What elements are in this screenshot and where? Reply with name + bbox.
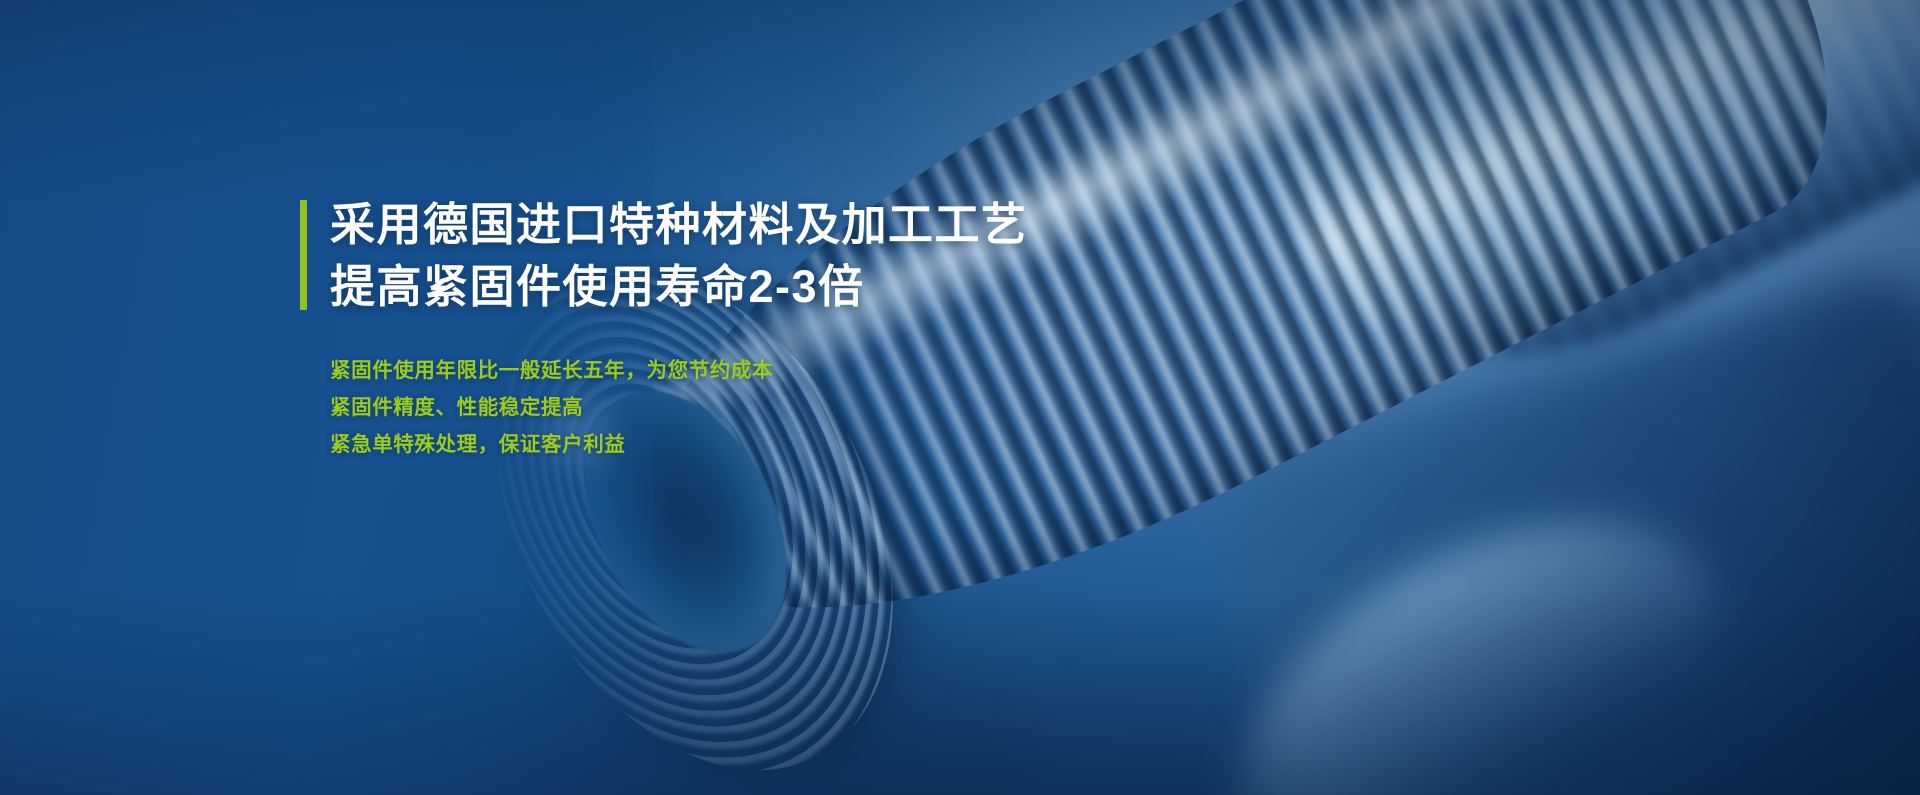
headline-line-2: 提高紧固件使用寿命2-3倍 — [330, 256, 1060, 318]
subtext-line-3: 紧急单特殊处理，保证客户利益 — [330, 426, 1060, 463]
subtext-group: 紧固件使用年限比一般延长五年，为您节约成本 紧固件精度、性能稳定提高 紧急单特殊… — [300, 352, 1060, 463]
green-accent-bar — [300, 200, 307, 310]
headline-group: 采用德国进口特种材料及加工工艺 提高紧固件使用寿命2-3倍 — [300, 194, 1060, 318]
subtext-line-2: 紧固件精度、性能稳定提高 — [330, 389, 1060, 426]
banner-copy-block: 采用德国进口特种材料及加工工艺 提高紧固件使用寿命2-3倍 紧固件使用年限比一般… — [300, 194, 1060, 463]
hero-banner: 采用德国进口特种材料及加工工艺 提高紧固件使用寿命2-3倍 紧固件使用年限比一般… — [0, 0, 1920, 795]
headline-line-1: 采用德国进口特种材料及加工工艺 — [330, 194, 1060, 256]
subtext-line-1: 紧固件使用年限比一般延长五年，为您节约成本 — [330, 352, 1060, 389]
